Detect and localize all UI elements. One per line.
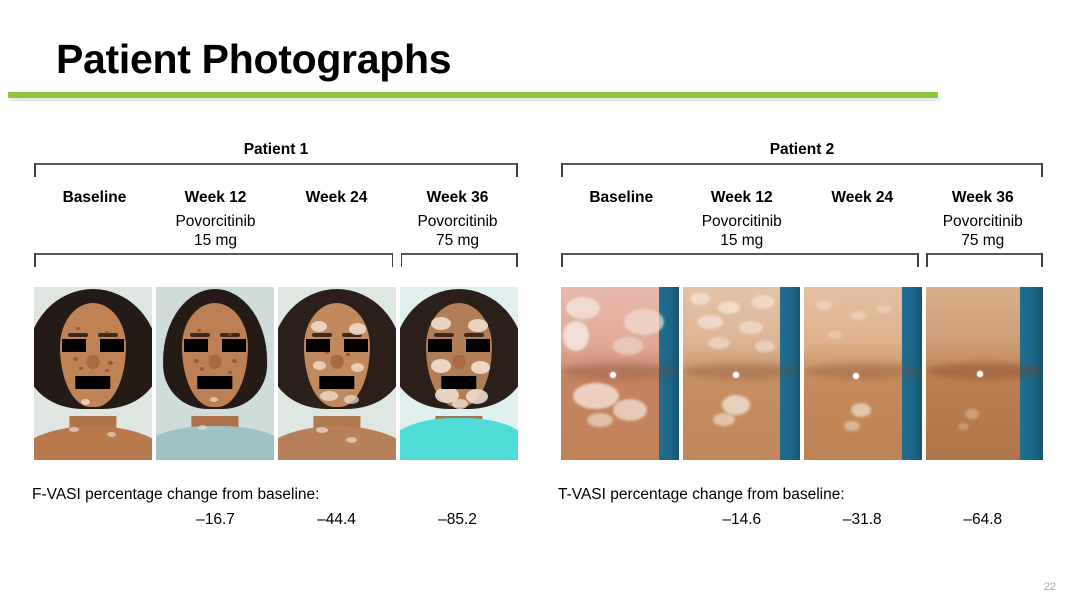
value-baseline xyxy=(561,509,682,531)
patient-2-span-bracket xyxy=(561,163,1043,177)
title-rule-shadow xyxy=(10,98,940,101)
patient-2-values: –14.6 –31.8 –64.8 xyxy=(561,509,1043,531)
patient-2-heading: Patient 2 xyxy=(561,140,1043,159)
title-accent-rule xyxy=(8,92,938,98)
value-week-12: –14.6 xyxy=(682,509,803,531)
bracket-cap-right xyxy=(392,253,394,267)
bracket-cap-left xyxy=(34,253,36,267)
patient-2-photo-row xyxy=(561,287,1043,460)
patient-1-dose-labels: Povorcitinib 15 mg Povorcitinib 75 mg xyxy=(34,212,518,250)
slide-number: 22 xyxy=(1044,581,1056,593)
dose-low-label: Povorcitinib 15 mg xyxy=(34,212,397,250)
value-baseline xyxy=(34,509,155,531)
dose-low-label: Povorcitinib 15 mg xyxy=(561,212,923,250)
value-week-12: –16.7 xyxy=(155,509,276,531)
bracket-cap-right xyxy=(1041,253,1043,267)
photo-patient-1-week-12 xyxy=(156,287,274,460)
patient-2-dose-bracket xyxy=(561,253,1043,267)
dose-high-label: Povorcitinib 75 mg xyxy=(923,212,1044,250)
photo-patient-1-week-36 xyxy=(400,287,518,460)
photo-patient-2-week-12 xyxy=(683,287,801,460)
bracket-line xyxy=(401,253,518,255)
dose-bracket-high xyxy=(926,253,1043,267)
photo-patient-2-week-24 xyxy=(804,287,922,460)
timepoint-week-12: Week 12 xyxy=(155,188,276,208)
timepoint-week-36: Week 36 xyxy=(923,188,1044,208)
value-week-36: –64.8 xyxy=(923,509,1044,531)
bracket-cap-left xyxy=(34,163,36,177)
patient-2-caption: T-VASI percentage change from baseline: xyxy=(558,485,845,505)
photo-patient-1-baseline xyxy=(34,287,152,460)
dose-bracket-low xyxy=(561,253,919,267)
bracket-cap-left xyxy=(401,253,403,267)
bracket-cap-left xyxy=(926,253,928,267)
bracket-cap-right xyxy=(516,163,518,177)
value-week-24: –31.8 xyxy=(802,509,923,531)
timepoint-week-36: Week 36 xyxy=(397,188,518,208)
photo-patient-2-baseline xyxy=(561,287,679,460)
timepoint-baseline: Baseline xyxy=(34,188,155,208)
timepoint-week-24: Week 24 xyxy=(276,188,397,208)
bracket-cap-left xyxy=(561,253,563,267)
bracket-line xyxy=(561,253,919,255)
timepoint-baseline: Baseline xyxy=(561,188,682,208)
dose-bracket-high xyxy=(401,253,518,267)
patient-1-timepoint-labels: Baseline Week 12 Week 24 Week 36 xyxy=(34,188,518,208)
bracket-cap-right xyxy=(1041,163,1043,177)
bracket-line xyxy=(34,253,393,255)
value-week-36: –85.2 xyxy=(397,509,518,531)
patient-1-panel: Patient 1 Baseline Week 12 Week 24 Week … xyxy=(34,140,518,460)
photo-patient-1-week-24 xyxy=(278,287,396,460)
timepoint-week-12: Week 12 xyxy=(682,188,803,208)
patient-2-dose-labels: Povorcitinib 15 mg Povorcitinib 75 mg xyxy=(561,212,1043,250)
bracket-cap-right xyxy=(516,253,518,267)
value-week-24: –44.4 xyxy=(276,509,397,531)
dose-high-label: Povorcitinib 75 mg xyxy=(397,212,518,250)
patient-2-panel: Patient 2 Baseline Week 12 Week 24 Week … xyxy=(561,140,1043,460)
photo-patient-2-week-36 xyxy=(926,287,1044,460)
bracket-line xyxy=(34,163,518,165)
patient-2-timepoint-labels: Baseline Week 12 Week 24 Week 36 xyxy=(561,188,1043,208)
timepoint-week-24: Week 24 xyxy=(802,188,923,208)
page-title: Patient Photographs xyxy=(56,38,451,81)
bracket-cap-right xyxy=(917,253,919,267)
dose-bracket-low xyxy=(34,253,393,267)
bracket-line xyxy=(561,163,1043,165)
patient-1-dose-bracket xyxy=(34,253,518,267)
patient-1-heading: Patient 1 xyxy=(34,140,518,159)
patient-1-photo-row xyxy=(34,287,518,460)
patient-1-span-bracket xyxy=(34,163,518,177)
patient-1-values: –16.7 –44.4 –85.2 xyxy=(34,509,518,531)
bracket-cap-left xyxy=(561,163,563,177)
patient-1-caption: F-VASI percentage change from baseline: xyxy=(32,485,319,505)
bracket-line xyxy=(926,253,1043,255)
